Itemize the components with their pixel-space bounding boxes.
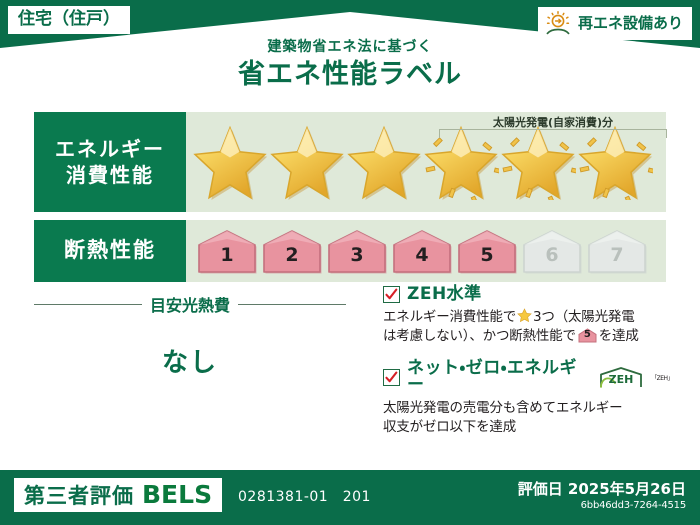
insulation-grade-1: 1 [196, 228, 258, 274]
criterion-zeh-standard-title: ZEH水準 [407, 286, 482, 303]
title-block: 建築物省エネ法に基づく 省エネ性能ラベル [0, 40, 700, 92]
utility-cost-value: なし [34, 342, 346, 379]
criterion-zeh-standard: ZEH水準 エネルギー消費性能で3つ（太陽光発電 は考慮しない）、かつ断熱性能で… [383, 286, 673, 346]
insulation-performance-body: 1234567 [186, 220, 666, 282]
insulation-grade-5: 5 [456, 228, 518, 274]
criterion-zeh-standard-desc: エネルギー消費性能で3つ（太陽光発電 は考慮しない）、かつ断熱性能で5を達成 [383, 308, 673, 346]
insulation-performance-label: 断熱性能 [34, 220, 186, 282]
energy-performance-body: 太陽光発電(自家消費)分 [186, 112, 666, 212]
insulation-grade-2: 2 [261, 228, 323, 274]
net-zero-desc-line1: 太陽光発電の売電分も含めてエネルギー [383, 400, 622, 416]
evaluation-date: 評価日 2025年5月26日 [518, 480, 686, 498]
insulation-grade-number: 4 [415, 246, 428, 274]
renewable-equipment-badge: 再エネ設備あり [538, 7, 692, 40]
star-icon [346, 124, 422, 200]
zeh-house-logo: ZEH [595, 366, 644, 388]
sun-renewable-icon [544, 11, 572, 36]
footer: 第三者評価 BELS 0281381-01 201 評価日 2025年5月26日… [0, 470, 700, 525]
solar-portion-note: 太陽光発電(自家消費)分 [439, 114, 667, 130]
zeh-desc-part3: は考慮しない）、かつ断熱性能で [383, 328, 576, 344]
star-icon [517, 308, 532, 323]
svg-text:ZEH: ZEH [609, 373, 634, 386]
zeh-logo-sub-label: 「ZEH」 [651, 373, 673, 382]
renewable-badge-label: 再エネ設備あり [578, 16, 683, 31]
checkbox-zeh-standard[interactable] [383, 286, 400, 303]
evaluation-id: 6bb46dd3-7264-4515 [581, 500, 686, 511]
insulation-grade-number: 5 [480, 246, 493, 274]
criterion-net-zero-energy: ネット・ゼロ・エネルギー ZEH 「ZEH」 太陽光発電の売電分も含めてエネルギ… [383, 360, 673, 437]
title-subtitle: 建築物省エネ法に基づく [0, 40, 700, 55]
insulation-grade-number: 7 [610, 246, 623, 274]
criterion-net-zero-title: ネット・ゼロ・エネルギー [407, 360, 588, 394]
bels-en-label: BELS [142, 482, 212, 507]
energy-performance-row: エネルギー 消費性能 太陽光発電(自家消費)分 [34, 112, 666, 212]
insulation-grade-scale: 1234567 [186, 220, 666, 282]
utility-cost-heading: 目安光熱費 [34, 292, 346, 316]
insulation-grade-7: 7 [586, 228, 648, 274]
net-zero-desc-line2: 収支がゼロ以下を達成 [383, 419, 516, 435]
rule-right [238, 304, 346, 305]
star-icon [269, 124, 345, 200]
criterion-net-zero-desc: 太陽光発電の売電分も含めてエネルギー 収支がゼロ以下を達成 [383, 399, 673, 437]
page-title: 省エネ性能ラベル [0, 58, 700, 92]
mini-house-grade-number: 5 [578, 330, 597, 340]
star-icon [192, 124, 268, 200]
insulation-performance-label-text: 断熱性能 [64, 237, 156, 264]
checkbox-net-zero-energy[interactable] [383, 369, 400, 386]
insulation-grade-number: 3 [350, 246, 363, 274]
insulation-grade-number: 2 [285, 246, 298, 274]
check-icon [385, 371, 398, 384]
insulation-grade-6: 6 [521, 228, 583, 274]
zeh-desc-part4: を達成 [599, 328, 639, 344]
insulation-grade-4: 4 [391, 228, 453, 274]
energy-performance-label-line1: エネルギー [55, 136, 165, 162]
mini-house-grade: 5 [578, 328, 597, 343]
utility-cost-heading-text: 目安光熱費 [150, 292, 230, 316]
category-tag: 住宅（住戸） [8, 6, 130, 34]
check-icon [385, 288, 398, 301]
criterion-zeh-standard-header: ZEH水準 [383, 286, 673, 303]
rule-left [34, 304, 142, 305]
zeh-desc-part2: 3つ（太陽光発電 [533, 309, 635, 325]
insulation-grade-number: 1 [220, 246, 233, 274]
zeh-desc-part1: エネルギー消費性能で [383, 309, 516, 325]
energy-performance-label: エネルギー 消費性能 [34, 112, 186, 212]
insulation-performance-row: 断熱性能 1234567 [34, 220, 666, 282]
utility-cost-block: 目安光熱費 なし [34, 292, 346, 379]
bels-logo: 第三者評価 BELS [14, 478, 222, 512]
certificate-number: 0281381-01 201 [238, 486, 371, 506]
energy-performance-label-line2: 消費性能 [66, 162, 154, 188]
criteria-block: ZEH水準 エネルギー消費性能で3つ（太陽光発電 は考慮しない）、かつ断熱性能で… [383, 286, 673, 438]
bels-jp-label: 第三者評価 [24, 486, 134, 507]
insulation-grade-3: 3 [326, 228, 388, 274]
solar-portion-bracket [439, 129, 667, 138]
criterion-net-zero-header: ネット・ゼロ・エネルギー ZEH 「ZEH」 [383, 360, 673, 394]
insulation-grade-number: 6 [545, 246, 558, 274]
